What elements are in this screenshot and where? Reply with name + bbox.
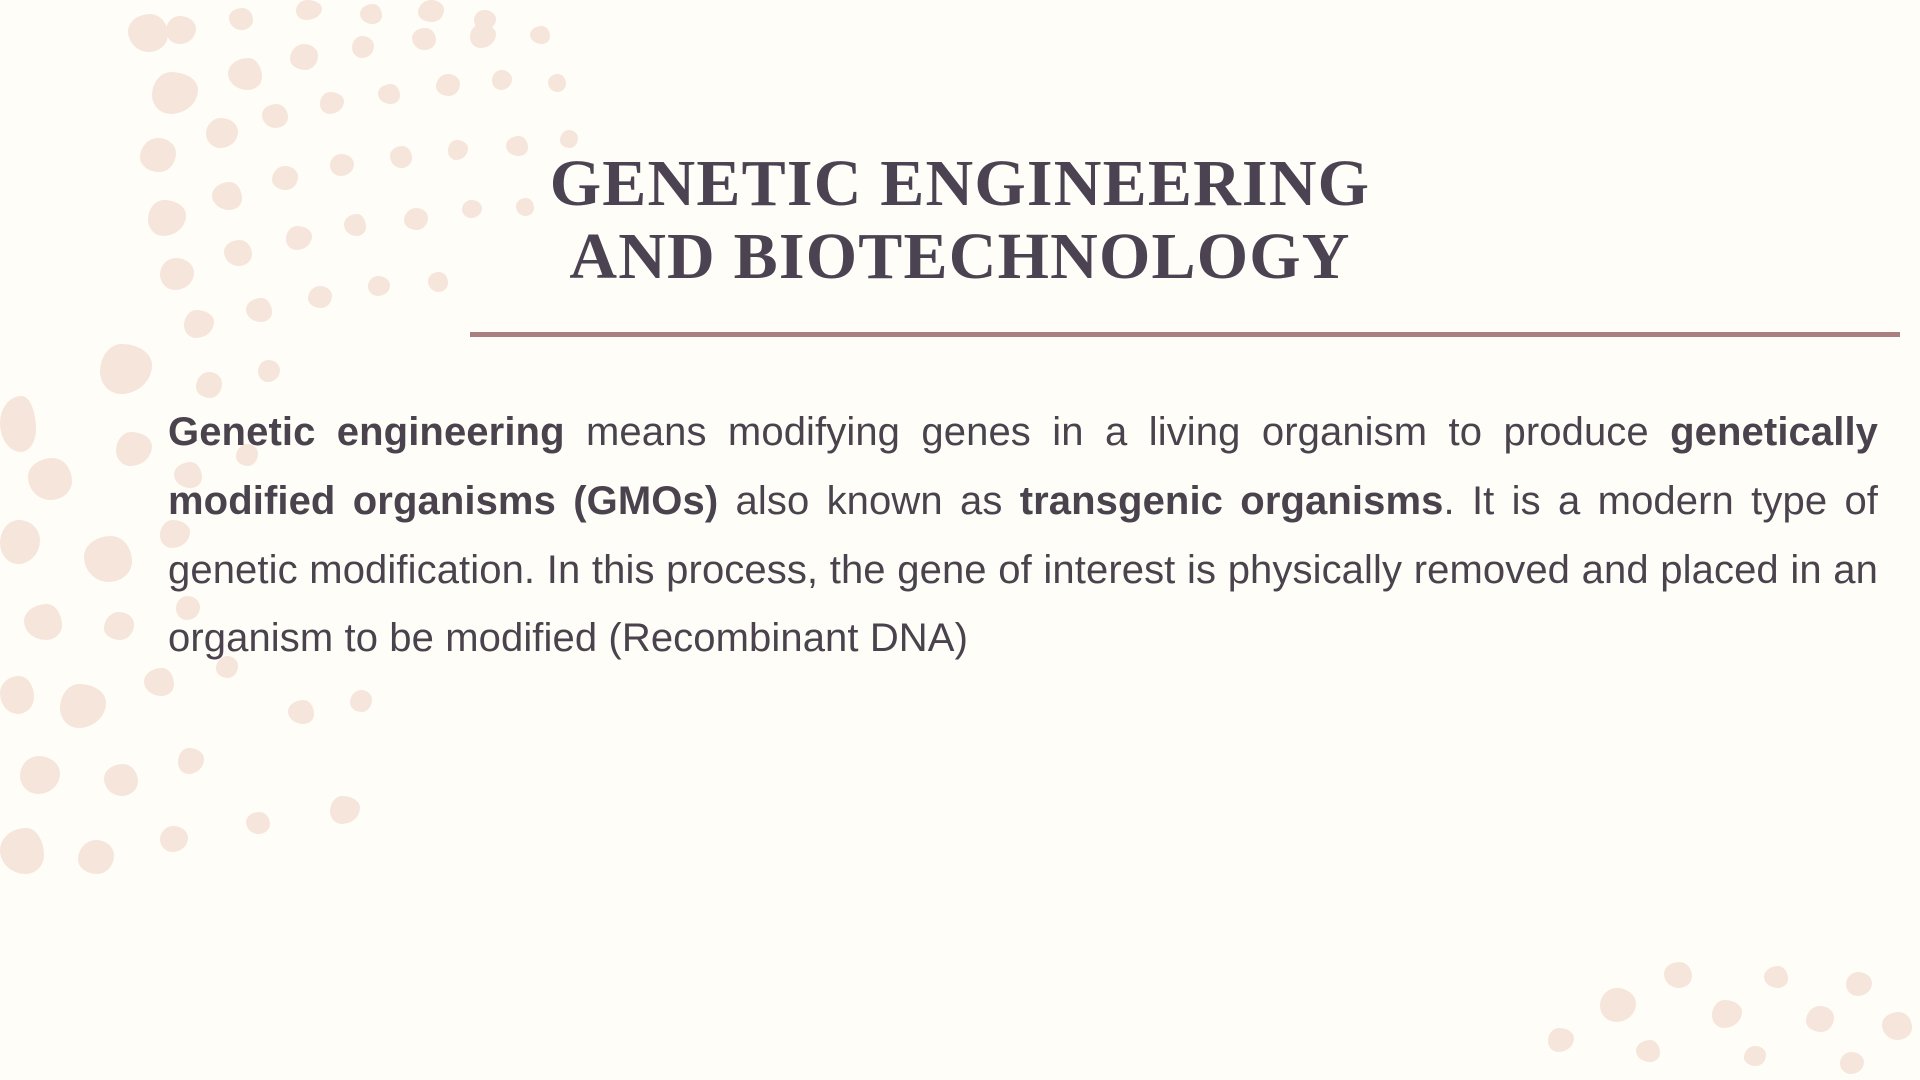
decorative-dot — [100, 344, 152, 394]
decorative-dot — [1600, 988, 1636, 1022]
decorative-dot — [152, 72, 198, 114]
slide-header: GENETIC ENGINEERING AND BIOTECHNOLOGY — [0, 148, 1920, 293]
decorative-dot — [288, 700, 314, 724]
decorative-dot — [1664, 962, 1692, 988]
decorative-dot — [412, 28, 436, 50]
decorative-dot — [28, 458, 72, 500]
decorative-dot — [530, 26, 550, 44]
decorative-dot — [350, 690, 372, 712]
decorative-dot — [229, 8, 253, 30]
decorative-dot — [84, 536, 132, 582]
decorative-dot — [1548, 1028, 1574, 1052]
decorative-dot — [320, 92, 344, 114]
decorative-dot — [1846, 972, 1872, 996]
decorative-dot — [290, 44, 318, 70]
decorative-dot — [246, 812, 270, 834]
decorative-dot — [1636, 1040, 1660, 1062]
decorative-dot — [78, 840, 114, 874]
decorative-dot — [116, 432, 152, 466]
decorative-dot — [1806, 1006, 1834, 1032]
decorative-dot — [1764, 966, 1788, 988]
decorative-dot — [24, 604, 62, 640]
decorative-dot — [160, 826, 188, 852]
body-paragraph: Genetic engineering means modifying gene… — [168, 398, 1878, 673]
decorative-dot — [166, 16, 196, 44]
decorative-dot — [0, 828, 44, 874]
decorative-dot — [128, 14, 168, 52]
decorative-dot — [104, 612, 134, 640]
decorative-dot — [418, 0, 444, 22]
decorative-dot — [0, 520, 40, 564]
page-title: GENETIC ENGINEERING AND BIOTECHNOLOGY — [0, 148, 1920, 293]
decorative-dot — [560, 130, 578, 148]
decorative-dot — [470, 24, 496, 48]
decorative-dot — [0, 676, 34, 714]
decorative-dot — [492, 70, 512, 90]
decorative-dot — [1744, 1046, 1766, 1066]
decorative-dot — [206, 118, 238, 148]
decorative-dot — [60, 684, 106, 728]
decorative-dot — [20, 756, 60, 794]
body-emphasis: Genetic engineering — [168, 410, 565, 454]
decorative-dot — [436, 74, 460, 96]
decorative-dot — [360, 4, 382, 24]
decorative-dot — [296, 0, 322, 20]
decorative-dot — [196, 372, 222, 398]
decorative-dot — [352, 36, 374, 58]
decorative-dot — [1712, 1000, 1742, 1028]
decorative-dot — [184, 310, 214, 338]
decorative-dot — [474, 10, 496, 30]
decorative-dot — [1882, 1012, 1912, 1040]
body-text-run: also known as — [718, 479, 1019, 523]
decorative-dot — [262, 104, 288, 128]
decorative-dot — [378, 84, 400, 104]
decorative-dot — [228, 58, 262, 90]
body-emphasis: transgenic organisms — [1020, 479, 1444, 523]
decorative-dot — [548, 74, 566, 92]
decorative-dot — [1840, 1052, 1864, 1074]
body-content: Genetic engineering means modifying gene… — [168, 398, 1878, 673]
slide-canvas: GENETIC ENGINEERING AND BIOTECHNOLOGY Ge… — [0, 0, 1920, 1080]
decorative-dot — [178, 748, 204, 774]
decorative-dot — [104, 764, 138, 796]
decorative-dot — [330, 796, 360, 824]
decorative-dot — [0, 396, 36, 452]
body-text-run: means modifying genes in a living organi… — [565, 410, 1671, 454]
title-divider — [470, 332, 1900, 337]
decorative-dot — [258, 360, 280, 382]
decorative-dot — [246, 298, 272, 322]
